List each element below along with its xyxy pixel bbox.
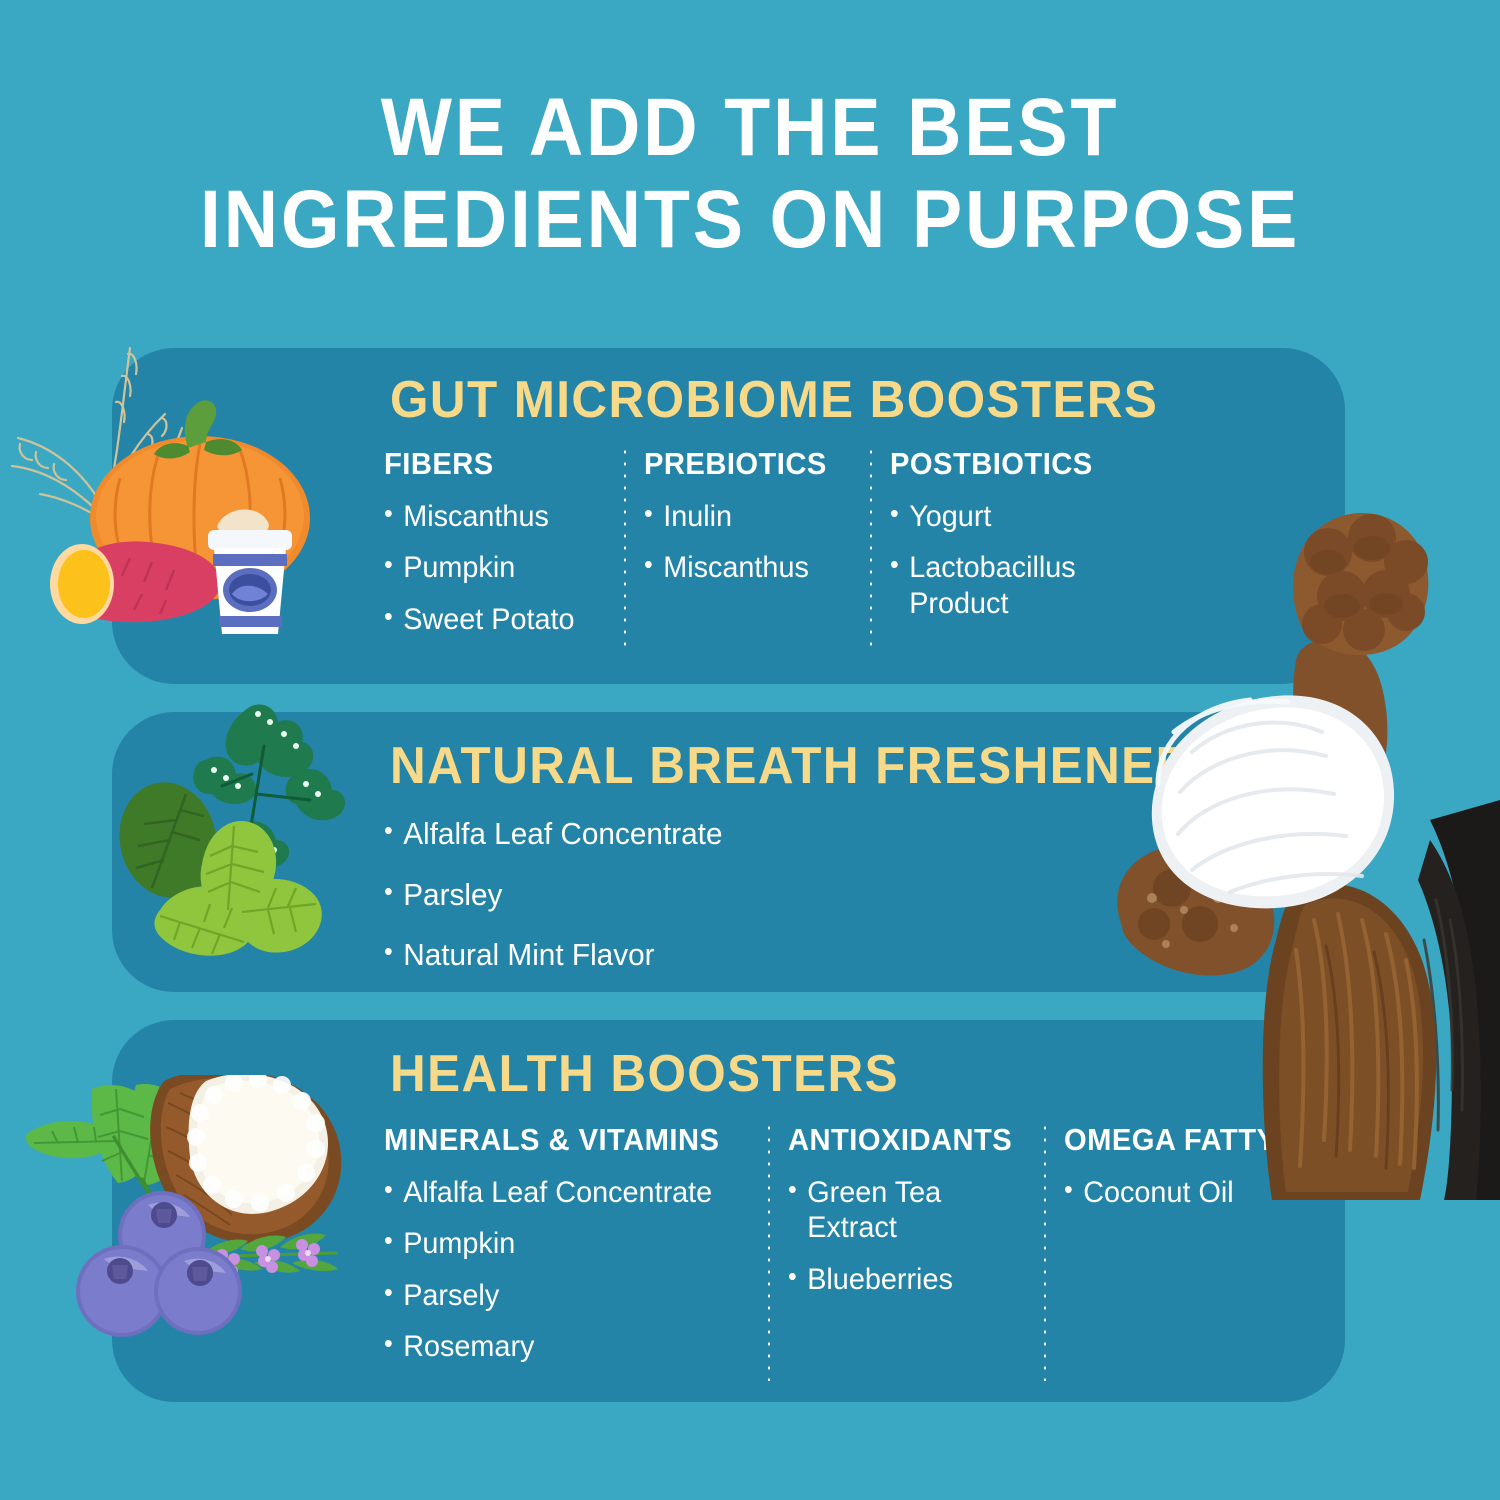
column-postbiotics: POSTBIOTICS Yogurt Lactobacillus Product [890,446,1130,637]
column-omega-list: Coconut Oil [1064,1175,1384,1210]
column-omega-title: OMEGA FATTY ACIDS [1064,1122,1365,1158]
column-divider [768,1122,770,1381]
card-gut-microbiome-boosters: GUT MICROBIOME BOOSTERS FIBERS Miscanthu… [112,348,1345,684]
card-natural-breath-fresheners: NATURAL BREATH FRESHENERS Alfalfa Leaf C… [112,712,1345,992]
column-fibers-title: FIBERS [384,446,593,482]
column-prebiotics: PREBIOTICS Inulin Miscanthus [644,446,852,602]
list-item: Coconut Oil [1064,1175,1371,1210]
title-line-1: WE ADD THE BEST [60,86,1440,170]
list-item: Miscanthus [384,499,597,534]
column-minerals-title: MINERALS & VITAMINS [384,1122,728,1158]
column-antioxidants-list: Green Tea Extract Blueberries [788,1175,1026,1297]
card-gut-heading: GUT MICROBIOME BOOSTERS [390,370,1158,430]
list-item: Green Tea Extract [788,1175,1016,1246]
column-omega-fatty-acids: OMEGA FATTY ACIDS Coconut Oil [1064,1122,1384,1226]
column-postbiotics-list: Yogurt Lactobacillus Product [890,499,1130,621]
column-divider [870,446,872,653]
list-item: Miscanthus [644,550,844,585]
list-item: Lactobacillus Product [890,550,1120,621]
list-item: Alfalfa Leaf Concentrate [384,1175,735,1210]
list-item: Alfalfa Leaf Concentrate [384,816,723,853]
list-item: Blueberries [788,1262,1016,1297]
column-postbiotics-title: POSTBIOTICS [890,446,1116,482]
column-fibers: FIBERS Miscanthus Pumpkin Sweet Potato [384,446,606,653]
card-gut-columns: FIBERS Miscanthus Pumpkin Sweet Potato P… [384,446,1144,653]
column-prebiotics-list: Inulin Miscanthus [644,499,852,586]
list-item: Rosemary [384,1329,735,1364]
list-item: Natural Mint Flavor [384,937,723,974]
list-item: Parsely [384,1278,735,1313]
column-antioxidants-title: ANTIOXIDANTS [788,1122,1012,1158]
card-health-boosters: HEALTH BOOSTERS MINERALS & VITAMINS Alfa… [112,1020,1345,1402]
card-health-columns: MINERALS & VITAMINS Alfalfa Leaf Concent… [384,1122,1384,1381]
column-minerals-vitamins: MINERALS & VITAMINS Alfalfa Leaf Concent… [384,1122,750,1381]
list-item: Pumpkin [384,1226,735,1261]
column-minerals-list: Alfalfa Leaf Concentrate Pumpkin Parsely… [384,1175,750,1365]
card-breath-heading: NATURAL BREATH FRESHENERS [390,736,1227,796]
column-fibers-list: Miscanthus Pumpkin Sweet Potato [384,499,606,637]
list-item: Parsley [384,877,723,914]
list-item: Pumpkin [384,550,597,585]
column-antioxidants: ANTIOXIDANTS Green Tea Extract Blueberri… [788,1122,1026,1313]
card-breath-list: Alfalfa Leaf Concentrate Parsley Natural… [384,816,737,998]
list-item: Sweet Potato [384,602,597,637]
column-divider [624,446,626,653]
page-title: WE ADD THE BEST INGREDIENTS ON PURPOSE [0,86,1500,261]
card-health-heading: HEALTH BOOSTERS [390,1044,899,1104]
column-prebiotics-title: PREBIOTICS [644,446,840,482]
list-item: Inulin [644,499,844,534]
column-divider [1044,1122,1046,1381]
list-item: Yogurt [890,499,1120,534]
title-line-2: INGREDIENTS ON PURPOSE [60,178,1440,262]
